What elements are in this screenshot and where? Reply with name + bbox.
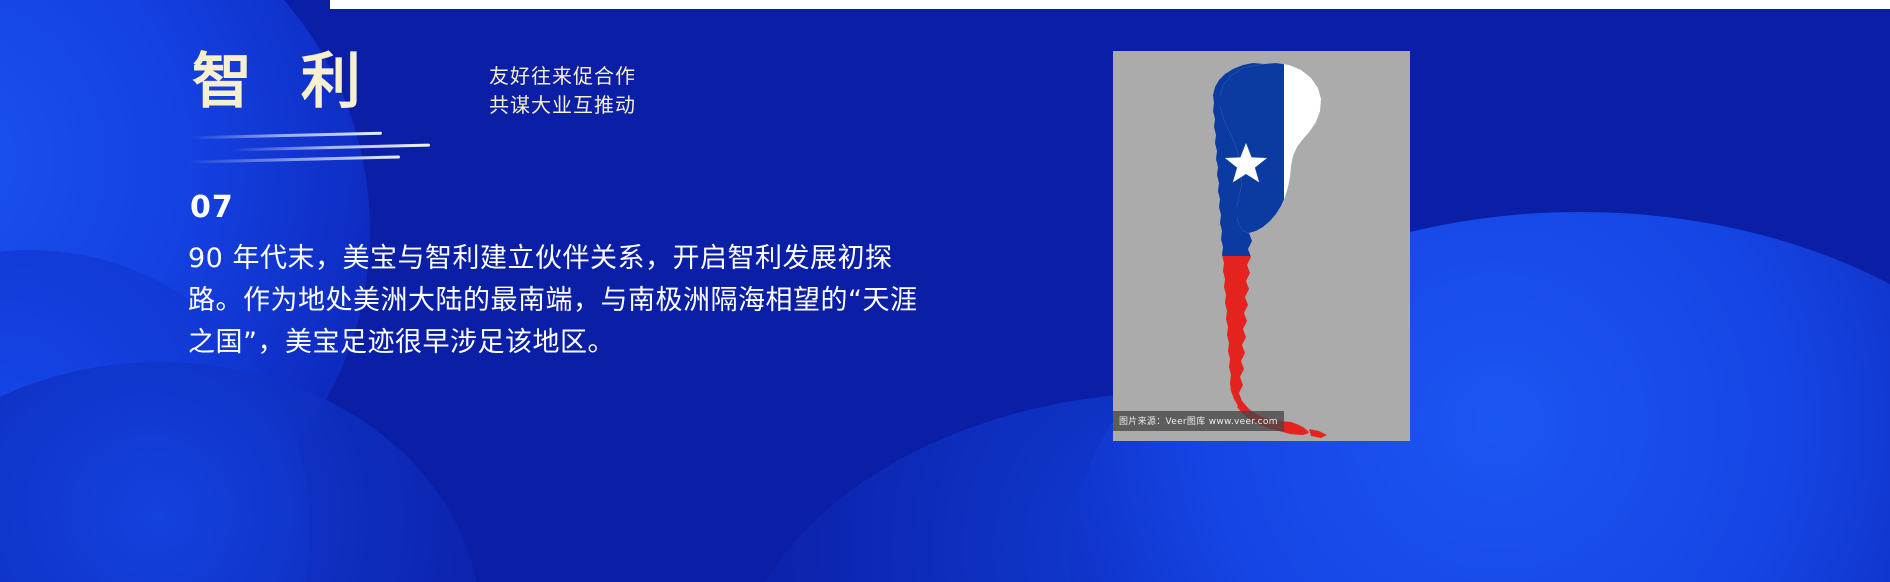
title-underline-group: [180, 118, 600, 178]
subtitle-line-1: 友好往来促合作: [489, 62, 636, 91]
content-column: 智 利 友好往来促合作 共谋大业互推动 07 90 年代末，美宝与智利建立伙伴关…: [0, 0, 1100, 582]
subtitle-line-2: 共谋大业互推动: [489, 91, 636, 120]
chile-map-photo-card: 图片来源：Veer图库 www.veer.com: [1113, 51, 1410, 441]
title-row: 智 利: [192, 52, 375, 112]
page-title: 智 利: [192, 52, 375, 112]
title-underline-1: [192, 132, 382, 140]
body-paragraph: 90 年代末，美宝与智利建立伙伴关系，开启智利发展初探路。作为地处美洲大陆的最南…: [188, 238, 928, 364]
title-underline-2: [232, 144, 430, 152]
subtitle-block: 友好往来促合作 共谋大业互推动: [489, 62, 636, 120]
chile-map-flag-icon: [1113, 51, 1410, 441]
slide-root: 智 利 友好往来促合作 共谋大业互推动 07 90 年代末，美宝与智利建立伙伴关…: [0, 0, 1890, 582]
title-underline-3: [188, 155, 400, 163]
section-number: 07: [190, 190, 234, 225]
photo-credit-caption: 图片来源：Veer图库 www.veer.com: [1113, 411, 1284, 431]
top-white-strip: [330, 0, 1890, 9]
